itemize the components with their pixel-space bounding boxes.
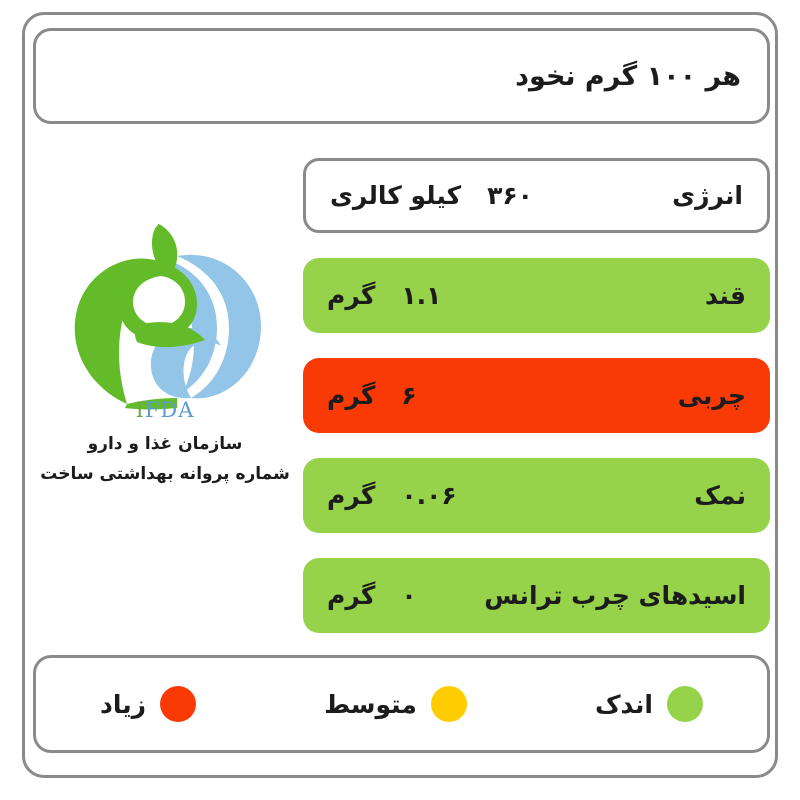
ifda-acronym: IFDA <box>40 398 290 422</box>
nutrient-row-fat: چربی ۶ گرم <box>303 358 770 433</box>
nutrient-row-trans-fat: اسیدهای چرب ترانس ۰ گرم <box>303 558 770 633</box>
nutrient-label-fat: چربی <box>678 381 770 410</box>
nutrient-unit-sugar: گرم <box>303 281 401 310</box>
ifda-logo-block: IFDA سازمان غذا و دارو شماره پروانه بهدا… <box>40 222 290 484</box>
nutrient-value-trans-fat: ۰ <box>401 581 416 610</box>
ifda-acronym-i: I <box>136 398 145 422</box>
ifda-acronym-rest: FDA <box>145 398 195 422</box>
nutrient-label-sugar: قند <box>705 281 770 310</box>
serving-header-box: هر ۱۰۰ گرم نخود <box>33 28 770 124</box>
nutrient-label-salt: نمک <box>694 481 770 510</box>
nutrient-value-energy: ۳۶۰ <box>487 181 533 210</box>
nutrient-unit-trans-fat: گرم <box>303 581 401 610</box>
nutrient-unit-fat: گرم <box>303 381 401 410</box>
nutrient-row-salt: نمک ۰.۰۶ گرم <box>303 458 770 533</box>
nutrient-label-trans-fat: اسیدهای چرب ترانس <box>484 581 770 610</box>
license-number-caption: شماره پروانه بهداشتی ساخت <box>40 464 290 484</box>
ifda-apple-logo-icon <box>65 222 265 412</box>
legend-dot-red-icon <box>160 686 196 722</box>
nutrient-row-energy: انرژی ۳۶۰ کیلو کالری <box>303 158 770 233</box>
legend-item-low: اندک <box>595 686 703 722</box>
nutrient-unit-energy: کیلو کالری <box>306 181 487 210</box>
legend-item-medium: متوسط <box>324 686 467 722</box>
nutrient-row-sugar: قند ۱.۱ گرم <box>303 258 770 333</box>
nutrient-unit-salt: گرم <box>303 481 401 510</box>
nutrient-value-salt: ۰.۰۶ <box>401 481 456 510</box>
legend-label-medium: متوسط <box>324 690 417 719</box>
nutrient-label-energy: انرژی <box>672 181 767 210</box>
legend-label-high: زیاد <box>100 690 146 719</box>
nutrient-rows: انرژی ۳۶۰ کیلو کالری قند ۱.۱ گرم چربی ۶ … <box>303 158 770 658</box>
nutrition-label-canvas: هر ۱۰۰ گرم نخود IFDA سازمان غذا و دارو ش… <box>0 0 800 800</box>
serving-size-title: هر ۱۰۰ گرم نخود <box>515 61 767 92</box>
legend-dot-green-icon <box>667 686 703 722</box>
nutrient-value-fat: ۶ <box>401 381 416 410</box>
legend-item-high: زیاد <box>100 686 196 722</box>
legend-label-low: اندک <box>595 690 653 719</box>
legend-dot-yellow-icon <box>431 686 467 722</box>
legend-box: اندک متوسط زیاد <box>33 655 770 753</box>
organization-name: سازمان غذا و دارو <box>40 434 290 454</box>
nutrient-value-sugar: ۱.۱ <box>401 281 441 310</box>
